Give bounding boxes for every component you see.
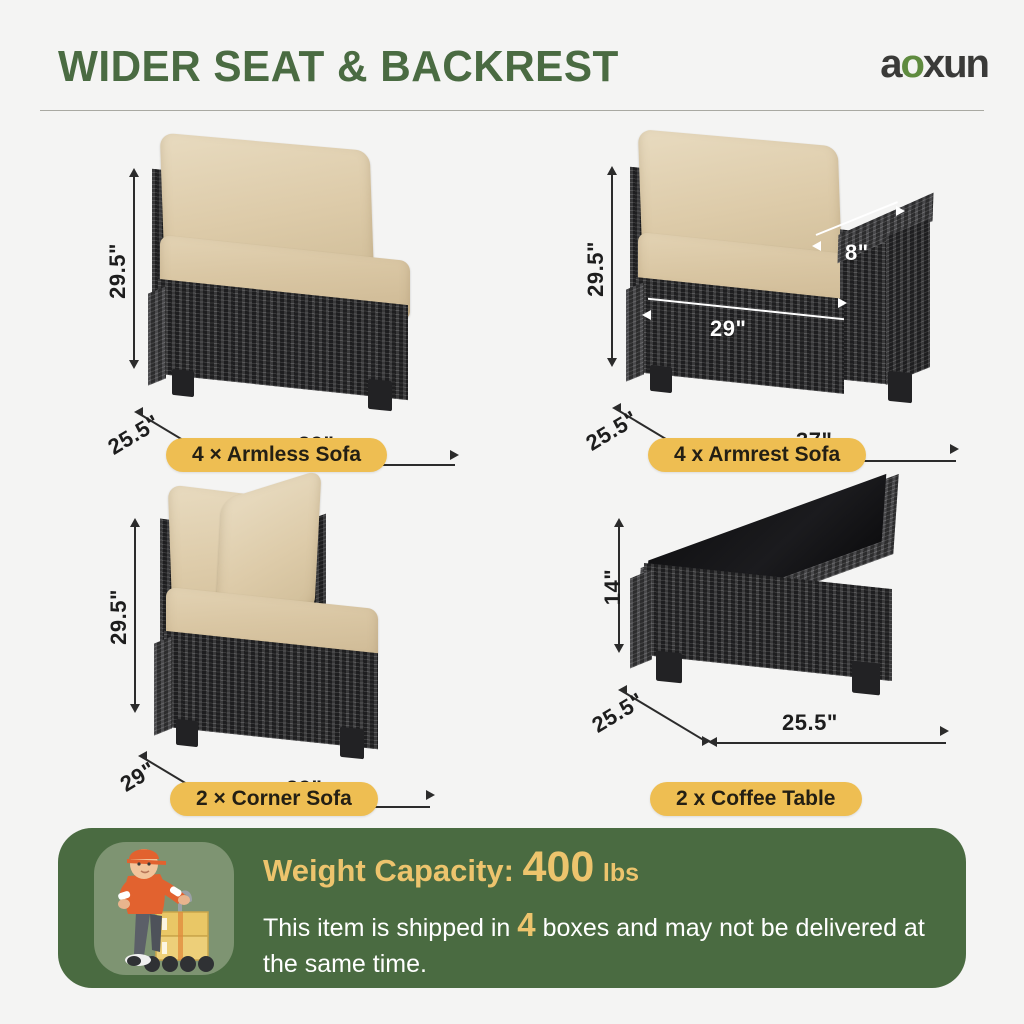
shipping-boxes-line: This item is shipped in 4 boxes and may … [263,903,943,981]
weight-capacity-label: Weight Capacity: [263,853,514,888]
width-arrow-right [426,790,435,800]
height-arrow-down [129,360,139,369]
table-width-label: 25.5" [782,710,838,736]
height-arrow-up [607,166,617,175]
badge-corner-sofa[interactable]: 2 × Corner Sofa [170,782,378,816]
page-title: WIDER SEAT & BACKREST [58,42,619,92]
armrest-sofa-illustration: 29.5" 8" 29" 25.5" 37" [520,122,1000,482]
arm-width-arrow-left [812,241,821,251]
shipping-box-count: 4 [517,906,535,943]
corner-sofa-illustration: 29.5" 29" 29" [30,470,500,825]
armless-height-label: 29.5" [105,231,131,311]
table-height-label: 14" [600,556,626,618]
width-arrow-right [940,726,949,736]
armrest-seat-width-label: 29" [710,316,746,342]
badge-armrest-sofa[interactable]: 4 x Armrest Sofa [648,438,866,472]
seat-width-arrow-right [838,298,847,308]
weight-capacity-value: 400 [523,843,595,891]
armrest-height-label: 29.5" [583,229,609,309]
height-arrow-up [130,518,140,527]
armrest-arm-width-label: 8" [845,240,869,266]
shipping-banner: Weight Capacity: 400 lbs This item is sh… [58,828,966,988]
height-dim-line [134,526,136,706]
product-panel-coffee-table: 14" 25.5" 25.5" 2 x Coffee Table [520,470,1000,825]
width-arrow-right [450,450,459,460]
badge-coffee-table[interactable]: 2 x Coffee Table [650,782,862,816]
delivery-worker-handtruck-icon [94,842,234,975]
height-arrow-up [614,518,624,527]
logo-letters-xun: xun [923,42,988,86]
product-panel-corner-sofa: 29.5" 29" 29" 2 × Corner Sofa [30,470,500,825]
banner-text-block: Weight Capacity: 400 lbs This item is sh… [263,844,943,982]
width-arrow-left [708,737,717,747]
height-dim-line [133,176,135,362]
product-panel-armless-sofa: 29.5" 25.5" 29" 4 × Armless Sofa [30,122,500,482]
logo-letter-o: o [900,42,922,86]
height-arrow-up [129,168,139,177]
coffee-table-illustration: 14" 25.5" 25.5" [520,470,1000,825]
logo-letter-a: a [880,42,900,86]
weight-capacity-units: lbs [603,859,639,887]
weight-capacity-line: Weight Capacity: 400 lbs [263,844,943,891]
height-arrow-down [607,358,617,367]
header-divider [40,110,984,111]
corner-height-label: 29.5" [106,577,132,657]
width-dim-line [714,742,946,744]
seat-width-arrow-left [642,310,651,320]
height-arrow-down [614,644,624,653]
brand-logo: aoxun [880,44,988,84]
page-header: WIDER SEAT & BACKREST aoxun [0,0,1024,112]
height-arrow-down [130,704,140,713]
height-dim-line [611,174,613,360]
product-panel-armrest-sofa: 29.5" 8" 29" 25.5" 37" 4 x Armrest Sofa [520,122,1000,482]
shipping-text-part1: This item is shipped in [263,914,510,942]
width-arrow-right [950,444,959,454]
badge-armless-sofa[interactable]: 4 × Armless Sofa [166,438,387,472]
armless-sofa-illustration: 29.5" 25.5" 29" [30,122,500,482]
arm-width-arrow-right [896,206,905,216]
